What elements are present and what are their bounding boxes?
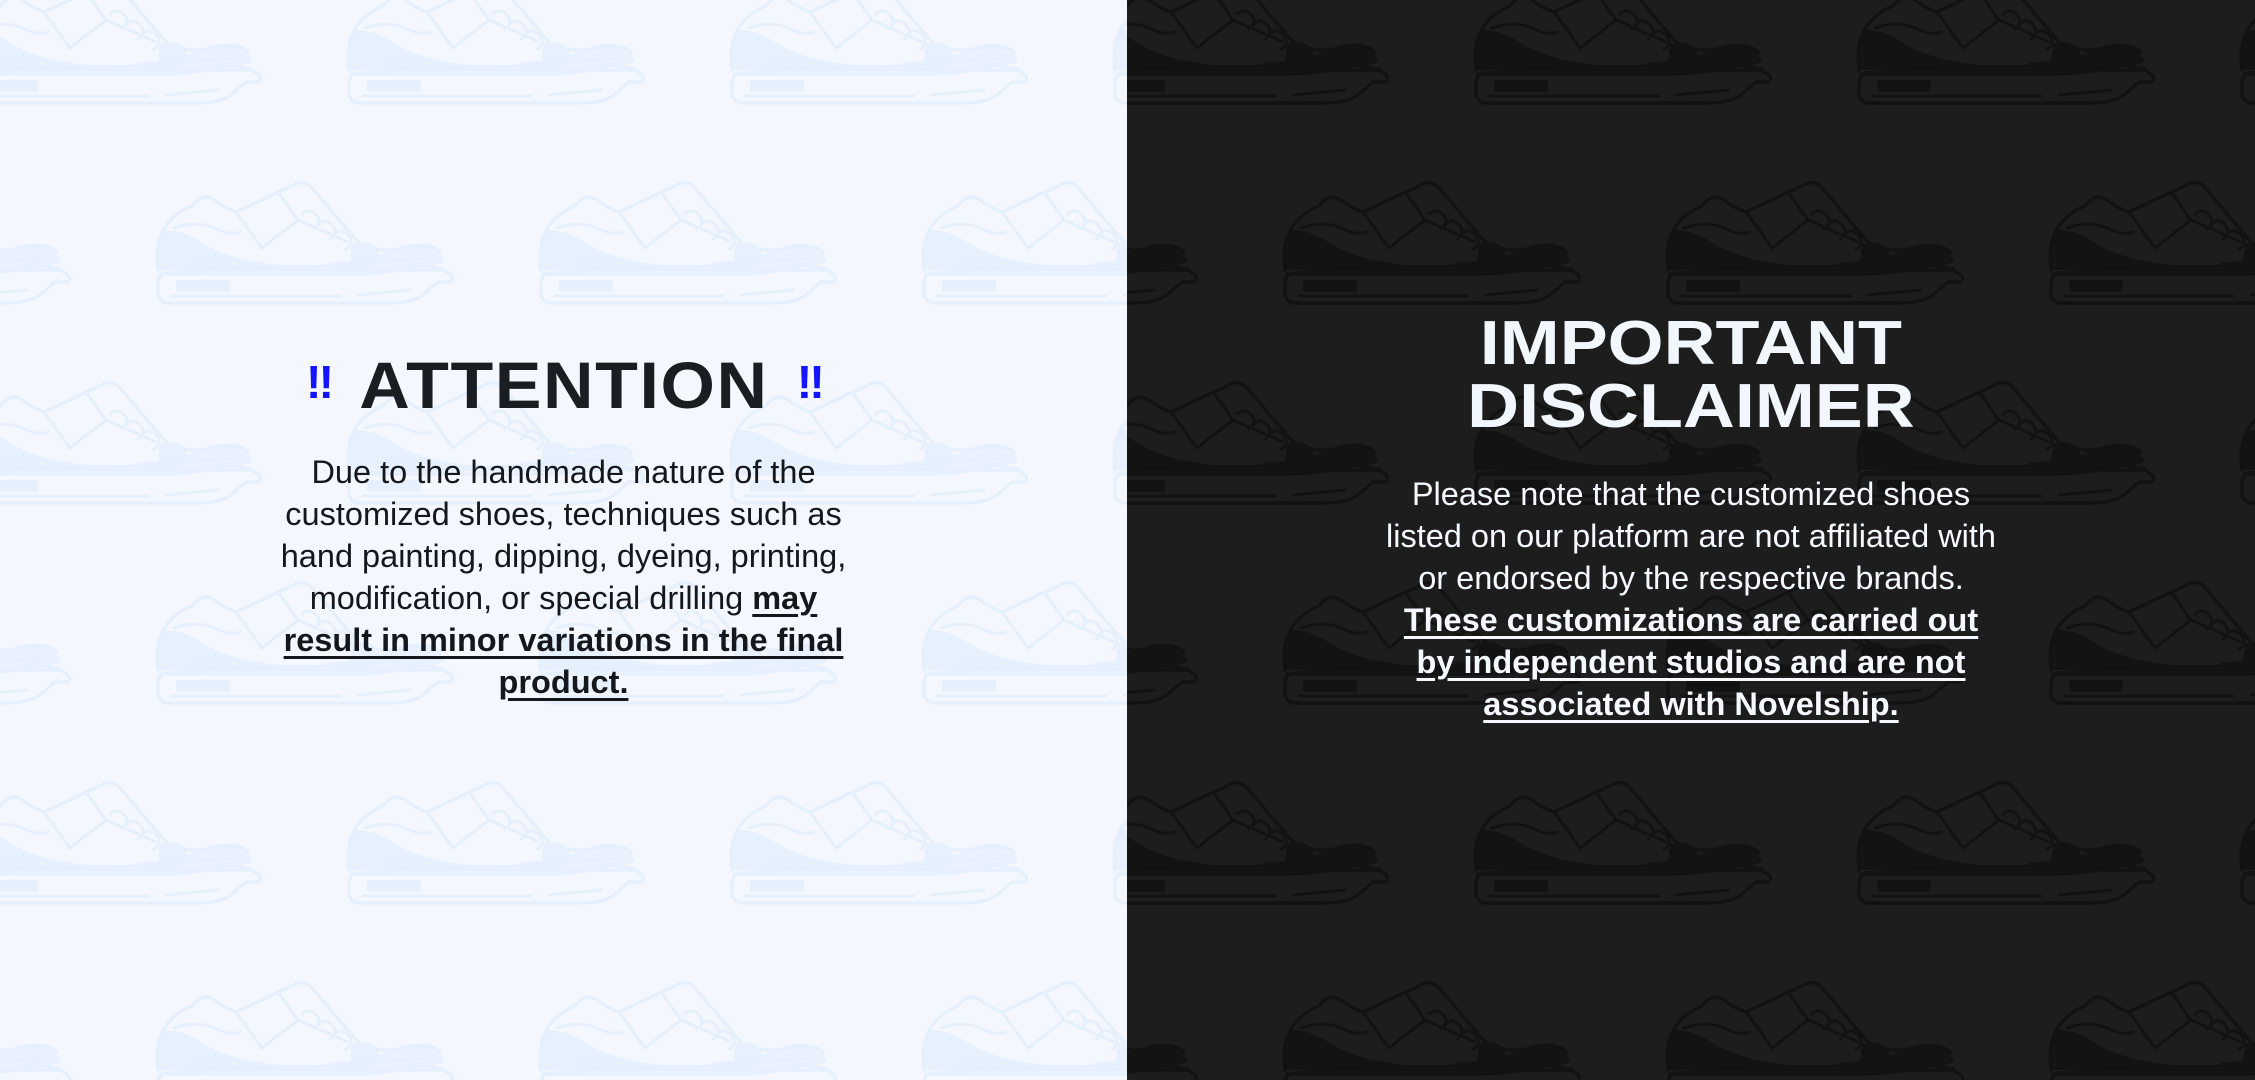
disclaimer-body-emphasis: These customizations are carried out by … xyxy=(1404,602,1978,722)
disclaimer-banner: ‼ ATTENTION ‼ Due to the handmade nature… xyxy=(0,0,2255,1080)
attention-content: ‼ ATTENTION ‼ Due to the handmade nature… xyxy=(0,0,1127,704)
attention-panel: ‼ ATTENTION ‼ Due to the handmade nature… xyxy=(0,0,1127,1080)
disclaimer-heading-line-1: IMPORTANT xyxy=(1467,312,1915,375)
attention-heading: ‼ ATTENTION ‼ xyxy=(305,352,822,418)
disclaimer-heading: IMPORTANT DISCLAIMER xyxy=(1467,312,1915,438)
double-exclamation-right-icon: ‼ xyxy=(796,359,821,405)
disclaimer-body-normal: Please note that the customized shoes li… xyxy=(1386,476,1996,596)
disclaimer-heading-line-2: DISCLAIMER xyxy=(1467,375,1915,438)
disclaimer-panel: IMPORTANT DISCLAIMER Please note that th… xyxy=(1127,0,2255,1080)
double-exclamation-left-icon: ‼ xyxy=(306,359,331,405)
attention-heading-word: ATTENTION xyxy=(359,352,768,418)
attention-body-text: Due to the handmade nature of the custom… xyxy=(274,452,854,704)
disclaimer-content: IMPORTANT DISCLAIMER Please note that th… xyxy=(1127,0,2255,726)
disclaimer-body-text: Please note that the customized shoes li… xyxy=(1386,474,1996,726)
